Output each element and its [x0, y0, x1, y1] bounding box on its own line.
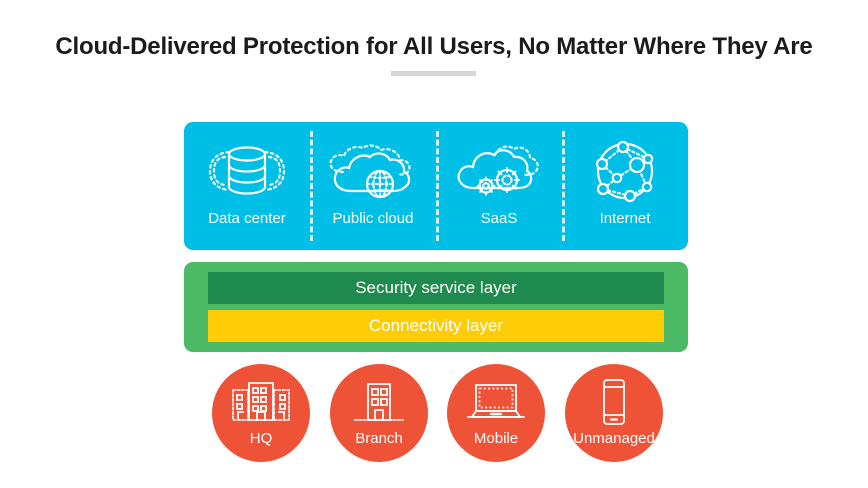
destination-internet[interactable]: Internet — [562, 122, 688, 250]
destination-saas[interactable]: SaaS — [436, 122, 562, 250]
page-title: Cloud-Delivered Protection for All Users… — [0, 33, 868, 61]
endpoint-label: Unmanaged — [573, 430, 655, 447]
destination-label: Data center — [208, 210, 286, 227]
office-building-icon — [230, 378, 292, 426]
endpoint-mobile[interactable]: Mobile — [447, 364, 545, 462]
diagram-canvas: Cloud-Delivered Protection for All Users… — [0, 0, 868, 488]
destination-data-center[interactable]: Data center — [184, 122, 310, 250]
endpoint-branch[interactable]: Branch — [330, 364, 428, 462]
security-layer-label: Security service layer — [355, 278, 517, 298]
endpoint-label: Mobile — [474, 430, 518, 447]
destination-public-cloud[interactable]: Public cloud — [310, 122, 436, 250]
destination-label: Public cloud — [333, 210, 414, 227]
small-building-icon — [352, 378, 406, 426]
laptop-icon — [466, 378, 526, 426]
title-divider — [391, 71, 476, 76]
network-globe-icon — [590, 140, 660, 202]
cloud-globe-icon — [325, 140, 421, 202]
connectivity-layer-label: Connectivity layer — [369, 316, 503, 336]
layers-container: Security service layer Connectivity laye… — [184, 262, 688, 352]
endpoint-label: HQ — [250, 430, 273, 447]
endpoint-hq[interactable]: HQ — [212, 364, 310, 462]
destinations-panel: Data center — [184, 122, 688, 250]
destination-label: SaaS — [481, 210, 518, 227]
security-service-layer[interactable]: Security service layer — [208, 272, 664, 304]
smartphone-icon — [597, 378, 631, 426]
destination-label: Internet — [600, 210, 651, 227]
database-icon — [203, 140, 291, 202]
endpoint-unmanaged[interactable]: Unmanaged — [565, 364, 663, 462]
connectivity-layer[interactable]: Connectivity layer — [208, 310, 664, 342]
endpoint-label: Branch — [355, 430, 403, 447]
endpoints-row: HQ Branch — [184, 364, 688, 464]
cloud-gears-icon — [451, 140, 547, 202]
